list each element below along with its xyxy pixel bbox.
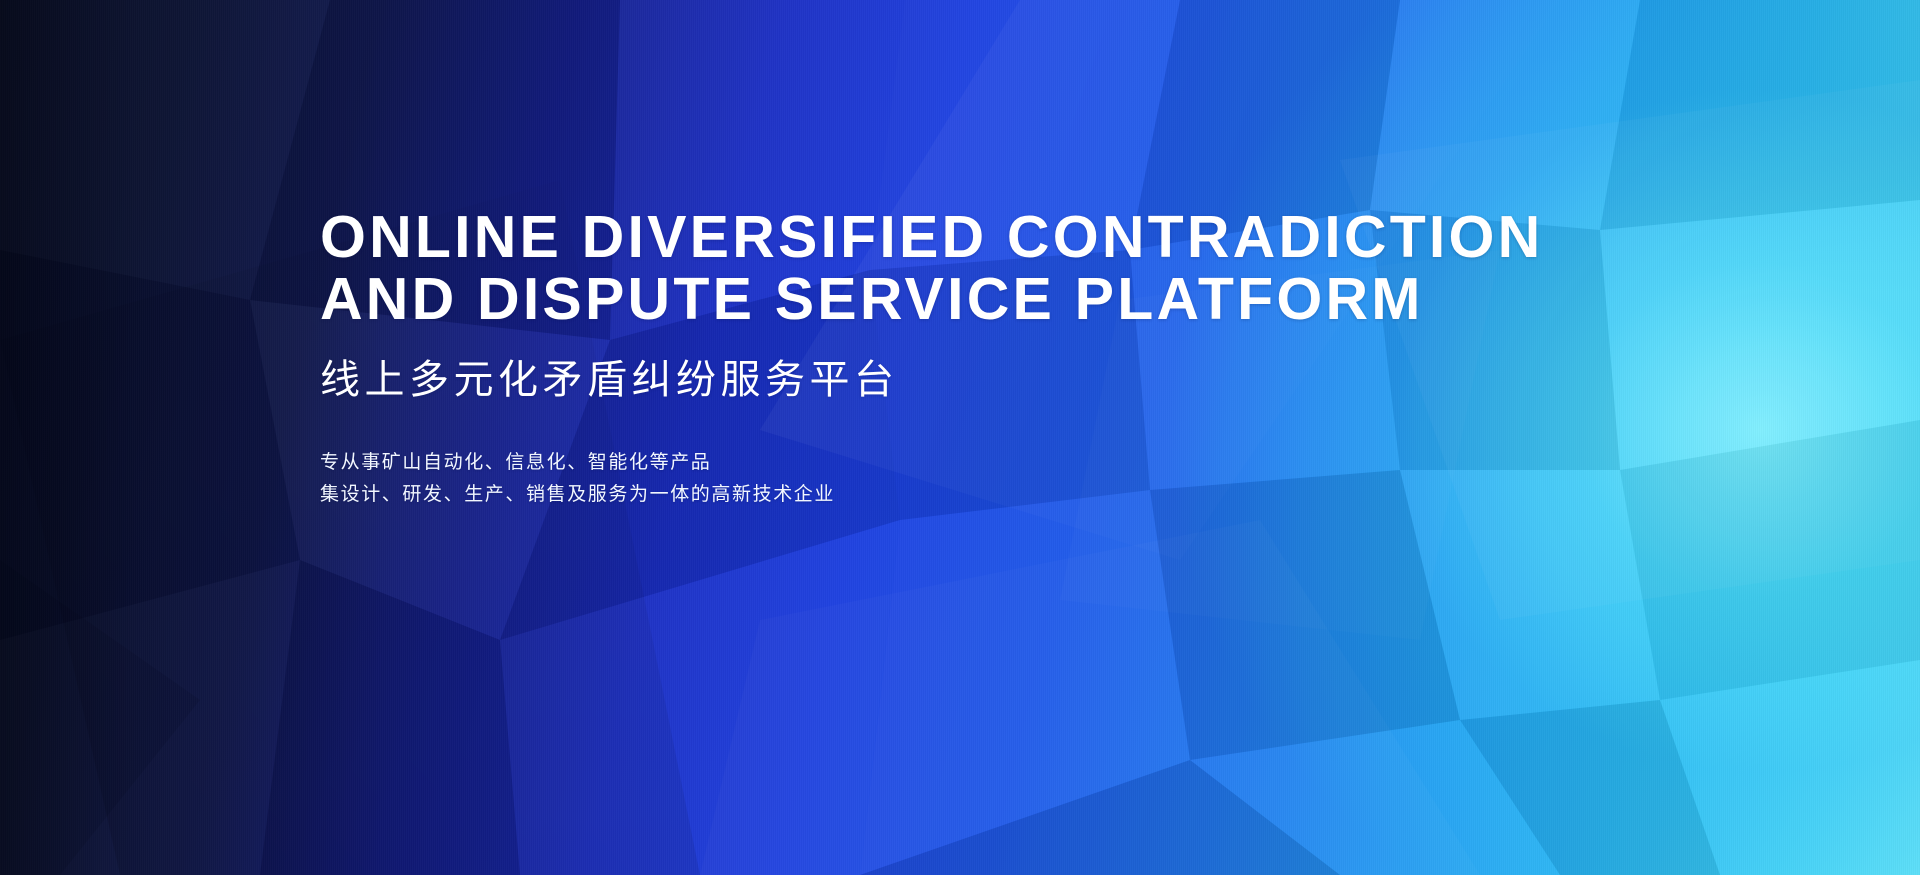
banner-description: 专从事矿山自动化、信息化、智能化等产品 集设计、研发、生产、销售及服务为一体的高… bbox=[320, 447, 1720, 511]
banner-subtitle: 线上多元化矛盾纠纷服务平台 bbox=[320, 357, 1720, 403]
description-line-1: 专从事矿山自动化、信息化、智能化等产品 bbox=[320, 447, 1720, 479]
headline-line-2: AND DISPUTE SERVICE PLATFORM bbox=[320, 268, 1720, 330]
banner-content: ONLINE DIVERSIFIED CONTRADICTION AND DIS… bbox=[320, 206, 1720, 511]
hero-banner: ONLINE DIVERSIFIED CONTRADICTION AND DIS… bbox=[0, 0, 1920, 875]
headline-line-1: ONLINE DIVERSIFIED CONTRADICTION bbox=[320, 206, 1720, 268]
description-line-2: 集设计、研发、生产、销售及服务为一体的高新技术企业 bbox=[320, 479, 1720, 511]
banner-headline: ONLINE DIVERSIFIED CONTRADICTION AND DIS… bbox=[320, 206, 1720, 330]
